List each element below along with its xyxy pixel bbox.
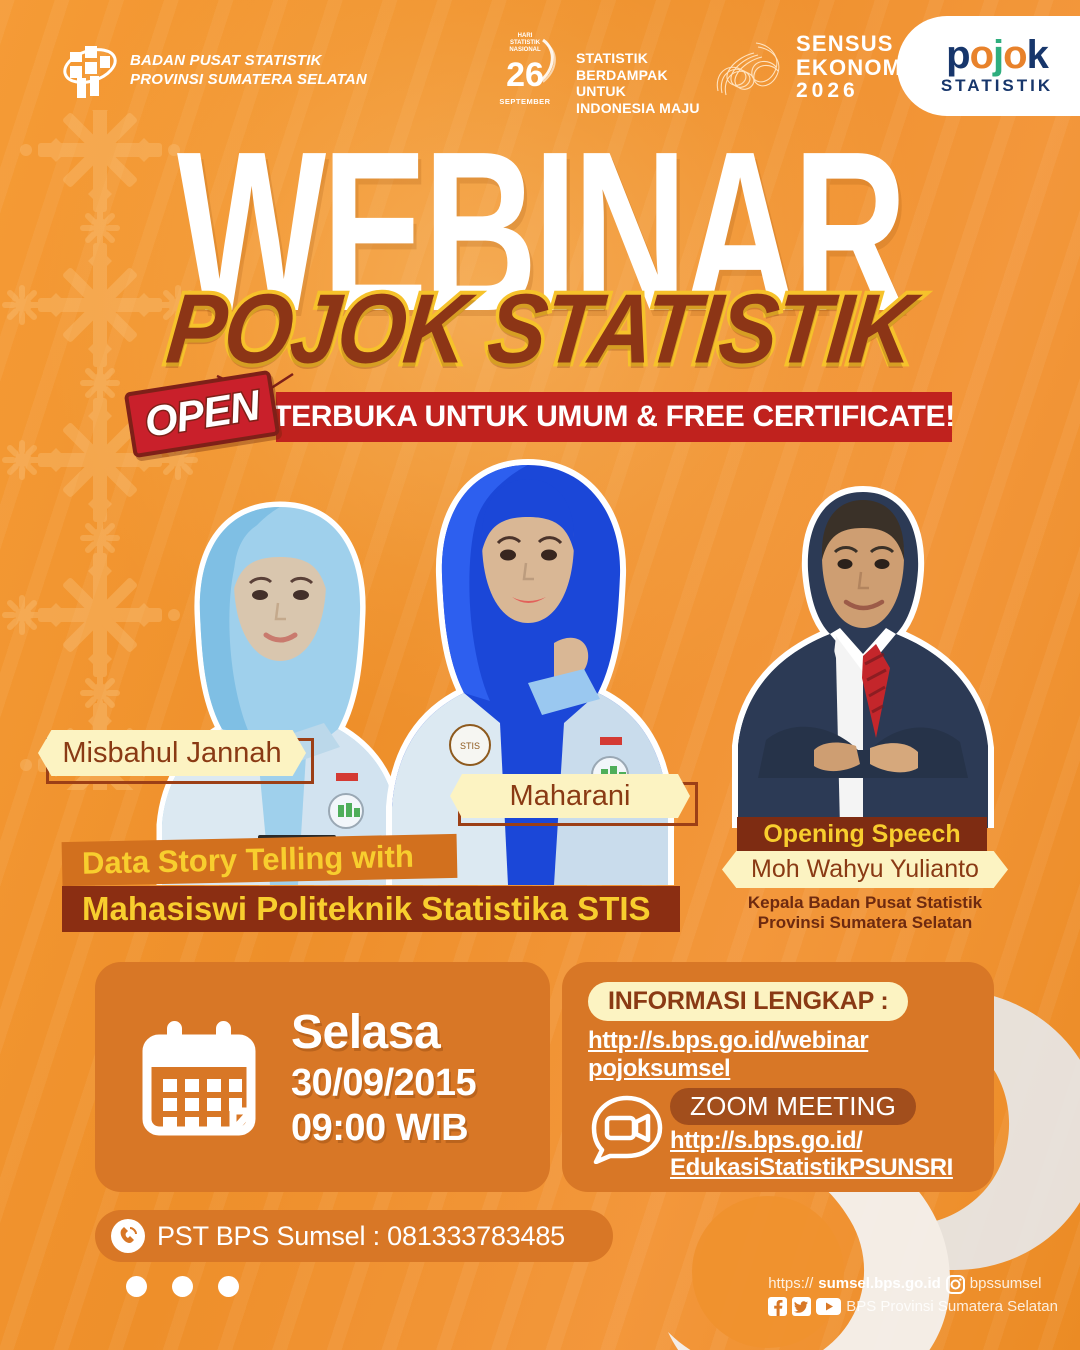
sensus-line-1: SENSUS xyxy=(796,32,910,56)
footer-website[interactable]: sumsel.bps.go.id xyxy=(818,1273,941,1296)
bps-line-2: PROVINSI SUMATERA SELATAN xyxy=(130,71,367,90)
zoom-meeting-pill: ZOOM MEETING xyxy=(670,1088,916,1125)
zoom-meeting-block: ZOOM MEETING http://s.bps.go.id/ Edukasi… xyxy=(670,1088,994,1182)
sensus-ekonomi-text: SENSUS EKONOMI 2026 xyxy=(796,32,910,102)
phone-icon[interactable] xyxy=(111,1219,145,1253)
sensus-line-2: EKONOMI xyxy=(796,56,910,80)
speaker-photo-misbahul-jannah: MISBAHUL JANNAH xyxy=(150,485,410,885)
sensus-ekonomi-logo-block: SENSUS EKONOMI 2026 xyxy=(710,32,910,102)
registration-url-link[interactable]: http://s.bps.go.id/webinar pojoksumsel xyxy=(588,1027,994,1084)
speaker-photo-moh-wahyu-yulianto xyxy=(718,478,1008,828)
youtube-icon[interactable] xyxy=(816,1297,841,1316)
pojok-letter-j: j xyxy=(993,33,1003,77)
sensus-year: 2026 xyxy=(796,80,910,103)
pojok-statistik-logo: pojok STATISTIK xyxy=(897,16,1080,116)
opening-speech-role-line-2: Provinsi Sumatera Selatan xyxy=(700,913,1030,933)
hari-statistik-nasional-26-icon: HARI STATISTIK NASIONAL 26 SEPTEMBER xyxy=(495,26,567,112)
open-badge-label: OPEN xyxy=(141,381,262,446)
speaker-name-label-2: Maharani xyxy=(510,780,631,813)
footer-instagram-handle: bpssumsel xyxy=(970,1273,1042,1296)
dot-3 xyxy=(218,1276,239,1297)
twitter-icon[interactable] xyxy=(792,1297,811,1316)
information-heading: INFORMASI LENGKAP : xyxy=(588,982,908,1021)
instagram-icon[interactable] xyxy=(946,1275,965,1294)
bps-logo-text: BADAN PUSAT STATISTIK PROVINSI SUMATERA … xyxy=(130,52,367,90)
schedule-date: 30/09/2015 xyxy=(291,1062,476,1105)
footer-website-row: https://sumsel.bps.go.id bpssumsel xyxy=(768,1273,1058,1296)
decorative-dots xyxy=(126,1276,239,1297)
pojok-letter-p: p xyxy=(946,33,969,77)
hsn-logo-block: HARI STATISTIK NASIONAL 26 SEPTEMBER STA… xyxy=(495,26,700,116)
dot-2 xyxy=(172,1276,193,1297)
topic-line-1-label: Data Story Telling with xyxy=(82,839,415,882)
topic-line-2: Mahasiswi Politeknik Statistika STIS xyxy=(62,886,680,932)
pojok-subtitle: STATISTIK xyxy=(941,76,1053,96)
speaker-name-label-1: Misbahul Jannah xyxy=(62,737,281,770)
opening-speech-label-text: Opening Speech xyxy=(763,820,960,849)
stis-badge-label: STIS xyxy=(460,741,480,751)
sensus-ekonomi-ribbon-icon xyxy=(710,33,788,101)
information-heading-text: INFORMASI LENGKAP : xyxy=(608,987,888,1016)
poster-canvas: BADAN PUSAT STATISTIK PROVINSI SUMATERA … xyxy=(0,0,1080,1350)
promo-banner-text: TERBUKA UNTUK UMUM & FREE CERTIFICATE! xyxy=(273,400,955,434)
hsn-small-bottom: NASIONAL xyxy=(509,47,541,53)
opening-speech-label: Opening Speech xyxy=(737,817,987,851)
pojok-letter-o1: o xyxy=(970,33,993,77)
bps-logo-icon xyxy=(62,40,118,102)
opening-speech-name-text: Moh Wahyu Yulianto xyxy=(751,855,979,884)
bps-line-1: BADAN PUSAT STATISTIK xyxy=(130,52,367,71)
topic-line-2-label: Mahasiswi Politeknik Statistika STIS xyxy=(82,890,651,928)
hsn-tagline-3: UNTUK xyxy=(576,83,700,100)
speaker-name-maharani: Maharani xyxy=(450,774,690,818)
opening-speech-role: Kepala Badan Pusat Statistik Provinsi Su… xyxy=(700,893,1030,934)
footer-social-row: BPS Provinsi Sumatera Selatan xyxy=(768,1296,1058,1319)
topic-line-1: Data Story Telling with xyxy=(62,834,458,886)
bps-logo-block: BADAN PUSAT STATISTIK PROVINSI SUMATERA … xyxy=(62,40,367,102)
zoom-meeting-row: ZOOM MEETING http://s.bps.go.id/ Edukasi… xyxy=(588,1088,994,1182)
speaker-name-misbahul-jannah: Misbahul Jannah xyxy=(38,730,306,776)
opening-speech-name: Moh Wahyu Yulianto xyxy=(722,851,1008,888)
hsn-small-mid: STATISTIK xyxy=(510,40,541,46)
pojok-wordmark: pojok xyxy=(946,36,1048,74)
schedule-card: Selasa 30/09/2015 09:00 WIB xyxy=(95,962,550,1192)
hsn-small-top: HARI xyxy=(518,33,533,39)
contact-card: PST BPS Sumsel : 081333783485 xyxy=(95,1210,613,1262)
information-card: INFORMASI LENGKAP : http://s.bps.go.id/w… xyxy=(562,962,994,1192)
schedule-day: Selasa xyxy=(291,1005,476,1060)
pojok-letter-k: k xyxy=(1027,33,1048,77)
pojok-letter-o2: o xyxy=(1003,33,1026,77)
schedule-time: 09:00 WIB xyxy=(291,1107,476,1150)
contact-text: PST BPS Sumsel : 081333783485 xyxy=(157,1221,565,1252)
footer-social-name: BPS Provinsi Sumatera Selatan xyxy=(846,1296,1058,1319)
promo-banner: TERBUKA UNTUK UMUM & FREE CERTIFICATE! xyxy=(276,392,952,442)
hsn-tagline-2: BERDAMPAK xyxy=(576,67,700,84)
hsn-number: 26 xyxy=(506,56,544,94)
opening-speech-role-line-1: Kepala Badan Pusat Statistik xyxy=(700,893,1030,913)
calendar-icon xyxy=(129,1007,269,1147)
zoom-meeting-label: ZOOM MEETING xyxy=(690,1091,896,1122)
footer-website-prefix: https:// xyxy=(768,1273,813,1296)
zoom-url-link[interactable]: http://s.bps.go.id/ EdukasiStatistikPSUN… xyxy=(670,1127,994,1182)
page-subtitle: POJOK STATISTIK xyxy=(0,272,1080,386)
facebook-icon[interactable] xyxy=(768,1297,787,1316)
footer-social: https://sumsel.bps.go.id bpssumsel BPS P… xyxy=(768,1273,1058,1318)
hsn-tagline-1: STATISTIK xyxy=(576,50,700,67)
schedule-text: Selasa 30/09/2015 09:00 WIB xyxy=(291,1005,476,1150)
dot-1 xyxy=(126,1276,147,1297)
video-camera-chat-icon xyxy=(588,1092,666,1164)
